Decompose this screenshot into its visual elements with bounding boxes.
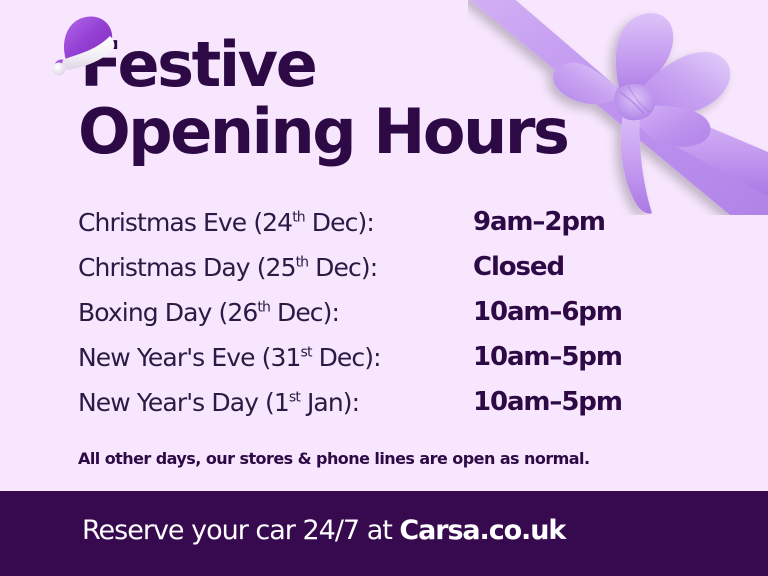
headline-line-1: Festive (78, 34, 698, 95)
hours-row-boxing-day: Boxing Day (26th Dec): 10am–6pm (78, 298, 698, 343)
festive-opening-hours-poster: Festive Opening Hours Christmas Eve (24t… (0, 0, 768, 576)
hours-value: Closed (473, 252, 564, 282)
hours-value: 10am–5pm (473, 342, 622, 372)
opening-hours-list: Christmas Eve (24th Dec): 9am–2pm Christ… (78, 208, 698, 433)
santa-hat-icon (46, 10, 118, 76)
hours-label: New Year's Day (1st Jan): (78, 388, 359, 417)
footer-cta-lead: Reserve your car 24/7 at (82, 515, 399, 546)
hours-value: 10am–6pm (473, 297, 622, 327)
hours-row-new-years-day: New Year's Day (1st Jan): 10am–5pm (78, 388, 698, 433)
hours-label: Boxing Day (26th Dec): (78, 298, 339, 327)
brand-url[interactable]: Carsa.co.uk (399, 515, 565, 546)
hours-label: Christmas Eve (24th Dec): (78, 208, 374, 237)
footer-banner: Reserve your car 24/7 at Carsa.co.uk (0, 491, 768, 576)
footnote-text: All other days, our stores & phone lines… (78, 449, 590, 468)
hours-row-christmas-day: Christmas Day (25th Dec): Closed (78, 253, 698, 298)
hours-row-new-years-eve: New Year's Eve (31st Dec): 10am–5pm (78, 343, 698, 388)
headline-line-2: Opening Hours (78, 101, 698, 162)
hours-row-christmas-eve: Christmas Eve (24th Dec): 9am–2pm (78, 208, 698, 253)
page-title: Festive Opening Hours (78, 34, 698, 163)
hours-value: 10am–5pm (473, 387, 622, 417)
hours-label: Christmas Day (25th Dec): (78, 253, 377, 282)
footer-cta-text: Reserve your car 24/7 at Carsa.co.uk (82, 515, 565, 546)
hours-value: 9am–2pm (473, 207, 605, 237)
hours-label: New Year's Eve (31st Dec): (78, 343, 381, 372)
